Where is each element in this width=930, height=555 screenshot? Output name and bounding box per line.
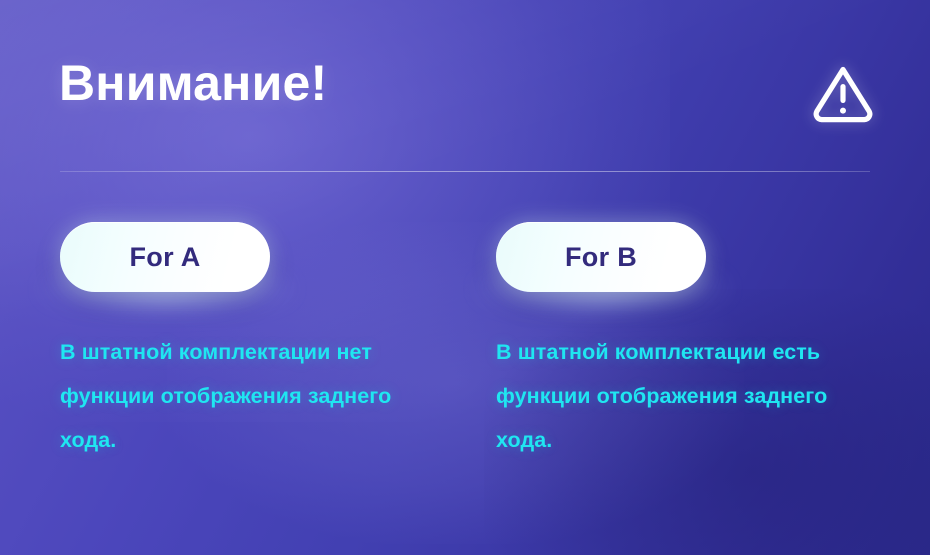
for-a-description: В штатной комплектации нет функции отобр… <box>60 330 445 462</box>
column-for-b: For B В штатной комплектации есть функци… <box>496 222 886 462</box>
column-for-a: For A В штатной комплектации нет функции… <box>60 222 450 462</box>
pill-button-wrapper-a: For A <box>60 222 270 292</box>
for-b-button[interactable]: For B <box>496 222 706 292</box>
for-b-button-label: For B <box>565 242 637 273</box>
for-a-button-label: For A <box>130 242 201 273</box>
header-divider <box>60 171 870 172</box>
pill-button-wrapper-b: For B <box>496 222 706 292</box>
page-title: Внимание! <box>59 57 327 110</box>
warning-triangle-icon <box>809 62 877 126</box>
for-a-button[interactable]: For A <box>60 222 270 292</box>
for-b-description: В штатной комплектации есть функции отоб… <box>496 330 881 462</box>
slide-canvas: Внимание! For A В штатной комплектации н… <box>0 0 930 555</box>
